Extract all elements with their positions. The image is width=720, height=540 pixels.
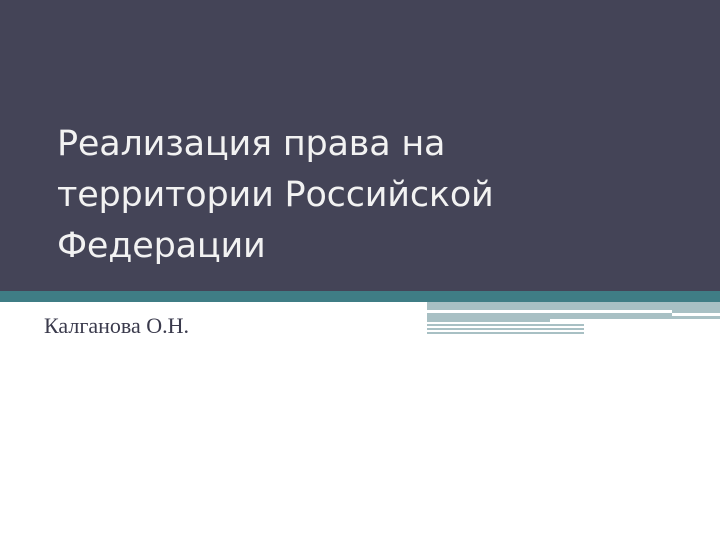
- title-panel: Реализация права на территории Российско…: [0, 0, 720, 291]
- presentation-slide: Реализация права на территории Российско…: [0, 0, 720, 540]
- band-teal-bar: [0, 291, 720, 302]
- slide-title: Реализация права на территории Российско…: [57, 119, 617, 272]
- band-thin-line-3: [427, 332, 584, 334]
- band-stripe-gap-2: [672, 313, 720, 316]
- band-thin-line-2: [427, 328, 584, 330]
- slide-subtitle: Калганова О.Н.: [44, 311, 189, 341]
- band-stripe-gap-1: [427, 310, 672, 313]
- band-thin-line-1: [427, 324, 584, 326]
- band-stripe-gap-3: [550, 319, 720, 322]
